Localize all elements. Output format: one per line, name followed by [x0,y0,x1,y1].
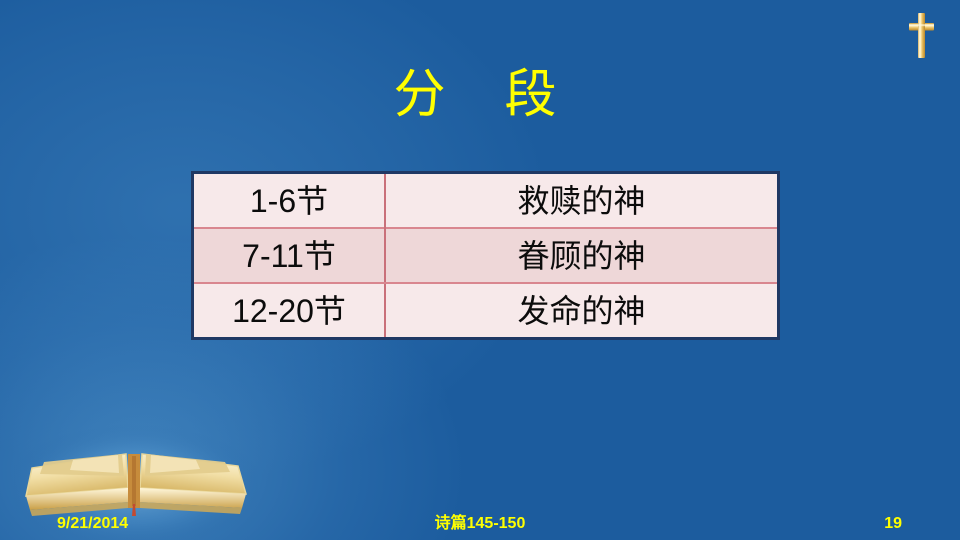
slide-footer: 9/21/2014 诗篇145-150 19 [0,506,960,540]
section-label-cell: 眷顾的神 [385,228,777,283]
section-label-cell: 发命的神 [385,283,777,337]
verse-range-cell: 12-20节 [194,283,385,337]
segment-table: 1-6节 救赎的神 7-11节 眷顾的神 12-20节 发命的神 [191,171,780,340]
slide-canvas: 分 段 1-6节 救赎的神 7-11节 眷顾的神 12-20节 发命的神 [0,0,960,540]
verse-range-cell: 1-6节 [194,174,385,228]
section-label-cell: 救赎的神 [385,174,777,228]
table-row: 1-6节 救赎的神 [194,174,777,228]
page-title: 分 段 [0,64,960,126]
cross-icon [898,4,944,66]
table-row: 7-11节 眷顾的神 [194,228,777,283]
verse-range-cell: 7-11节 [194,228,385,283]
table-row: 12-20节 发命的神 [194,283,777,337]
footer-page-number: 19 [884,514,902,534]
footer-scripture-reference: 诗篇145-150 [0,514,960,534]
